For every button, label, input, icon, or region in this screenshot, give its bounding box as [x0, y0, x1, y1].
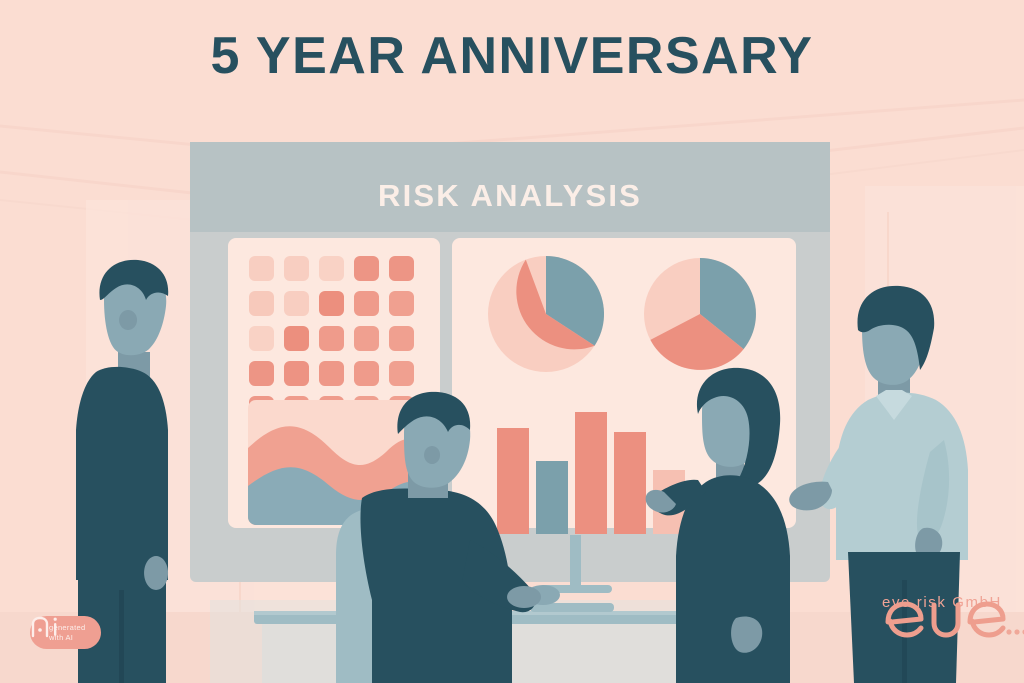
bar-C [575, 412, 607, 534]
pie-chart-1 [488, 256, 604, 372]
left-man-leg-split [119, 590, 124, 683]
bar-B [536, 461, 568, 534]
monitor-stand-post [570, 535, 581, 587]
left-man-hand [144, 556, 168, 590]
bar-D [614, 432, 646, 534]
pie-chart-2 [644, 258, 756, 370]
seated-man-hand [507, 586, 541, 608]
bar-A [497, 428, 529, 534]
woman-dress [676, 475, 790, 683]
left-man-body [76, 367, 168, 580]
brand-logo: eve risk GmbH [882, 592, 1002, 611]
left-man-ear [119, 310, 137, 330]
ai-generated-badge: generated with AI [30, 616, 101, 649]
seated-man-ear [424, 446, 440, 464]
illustration-canvas: 5 YEAR ANNIVERSARY RISK ANALYSIS generat… [0, 0, 1024, 683]
page-title: 5 YEAR ANNIVERSARY [0, 30, 1024, 82]
board-title: RISK ANALYSIS [190, 178, 830, 214]
scene-artwork [0, 0, 1024, 683]
